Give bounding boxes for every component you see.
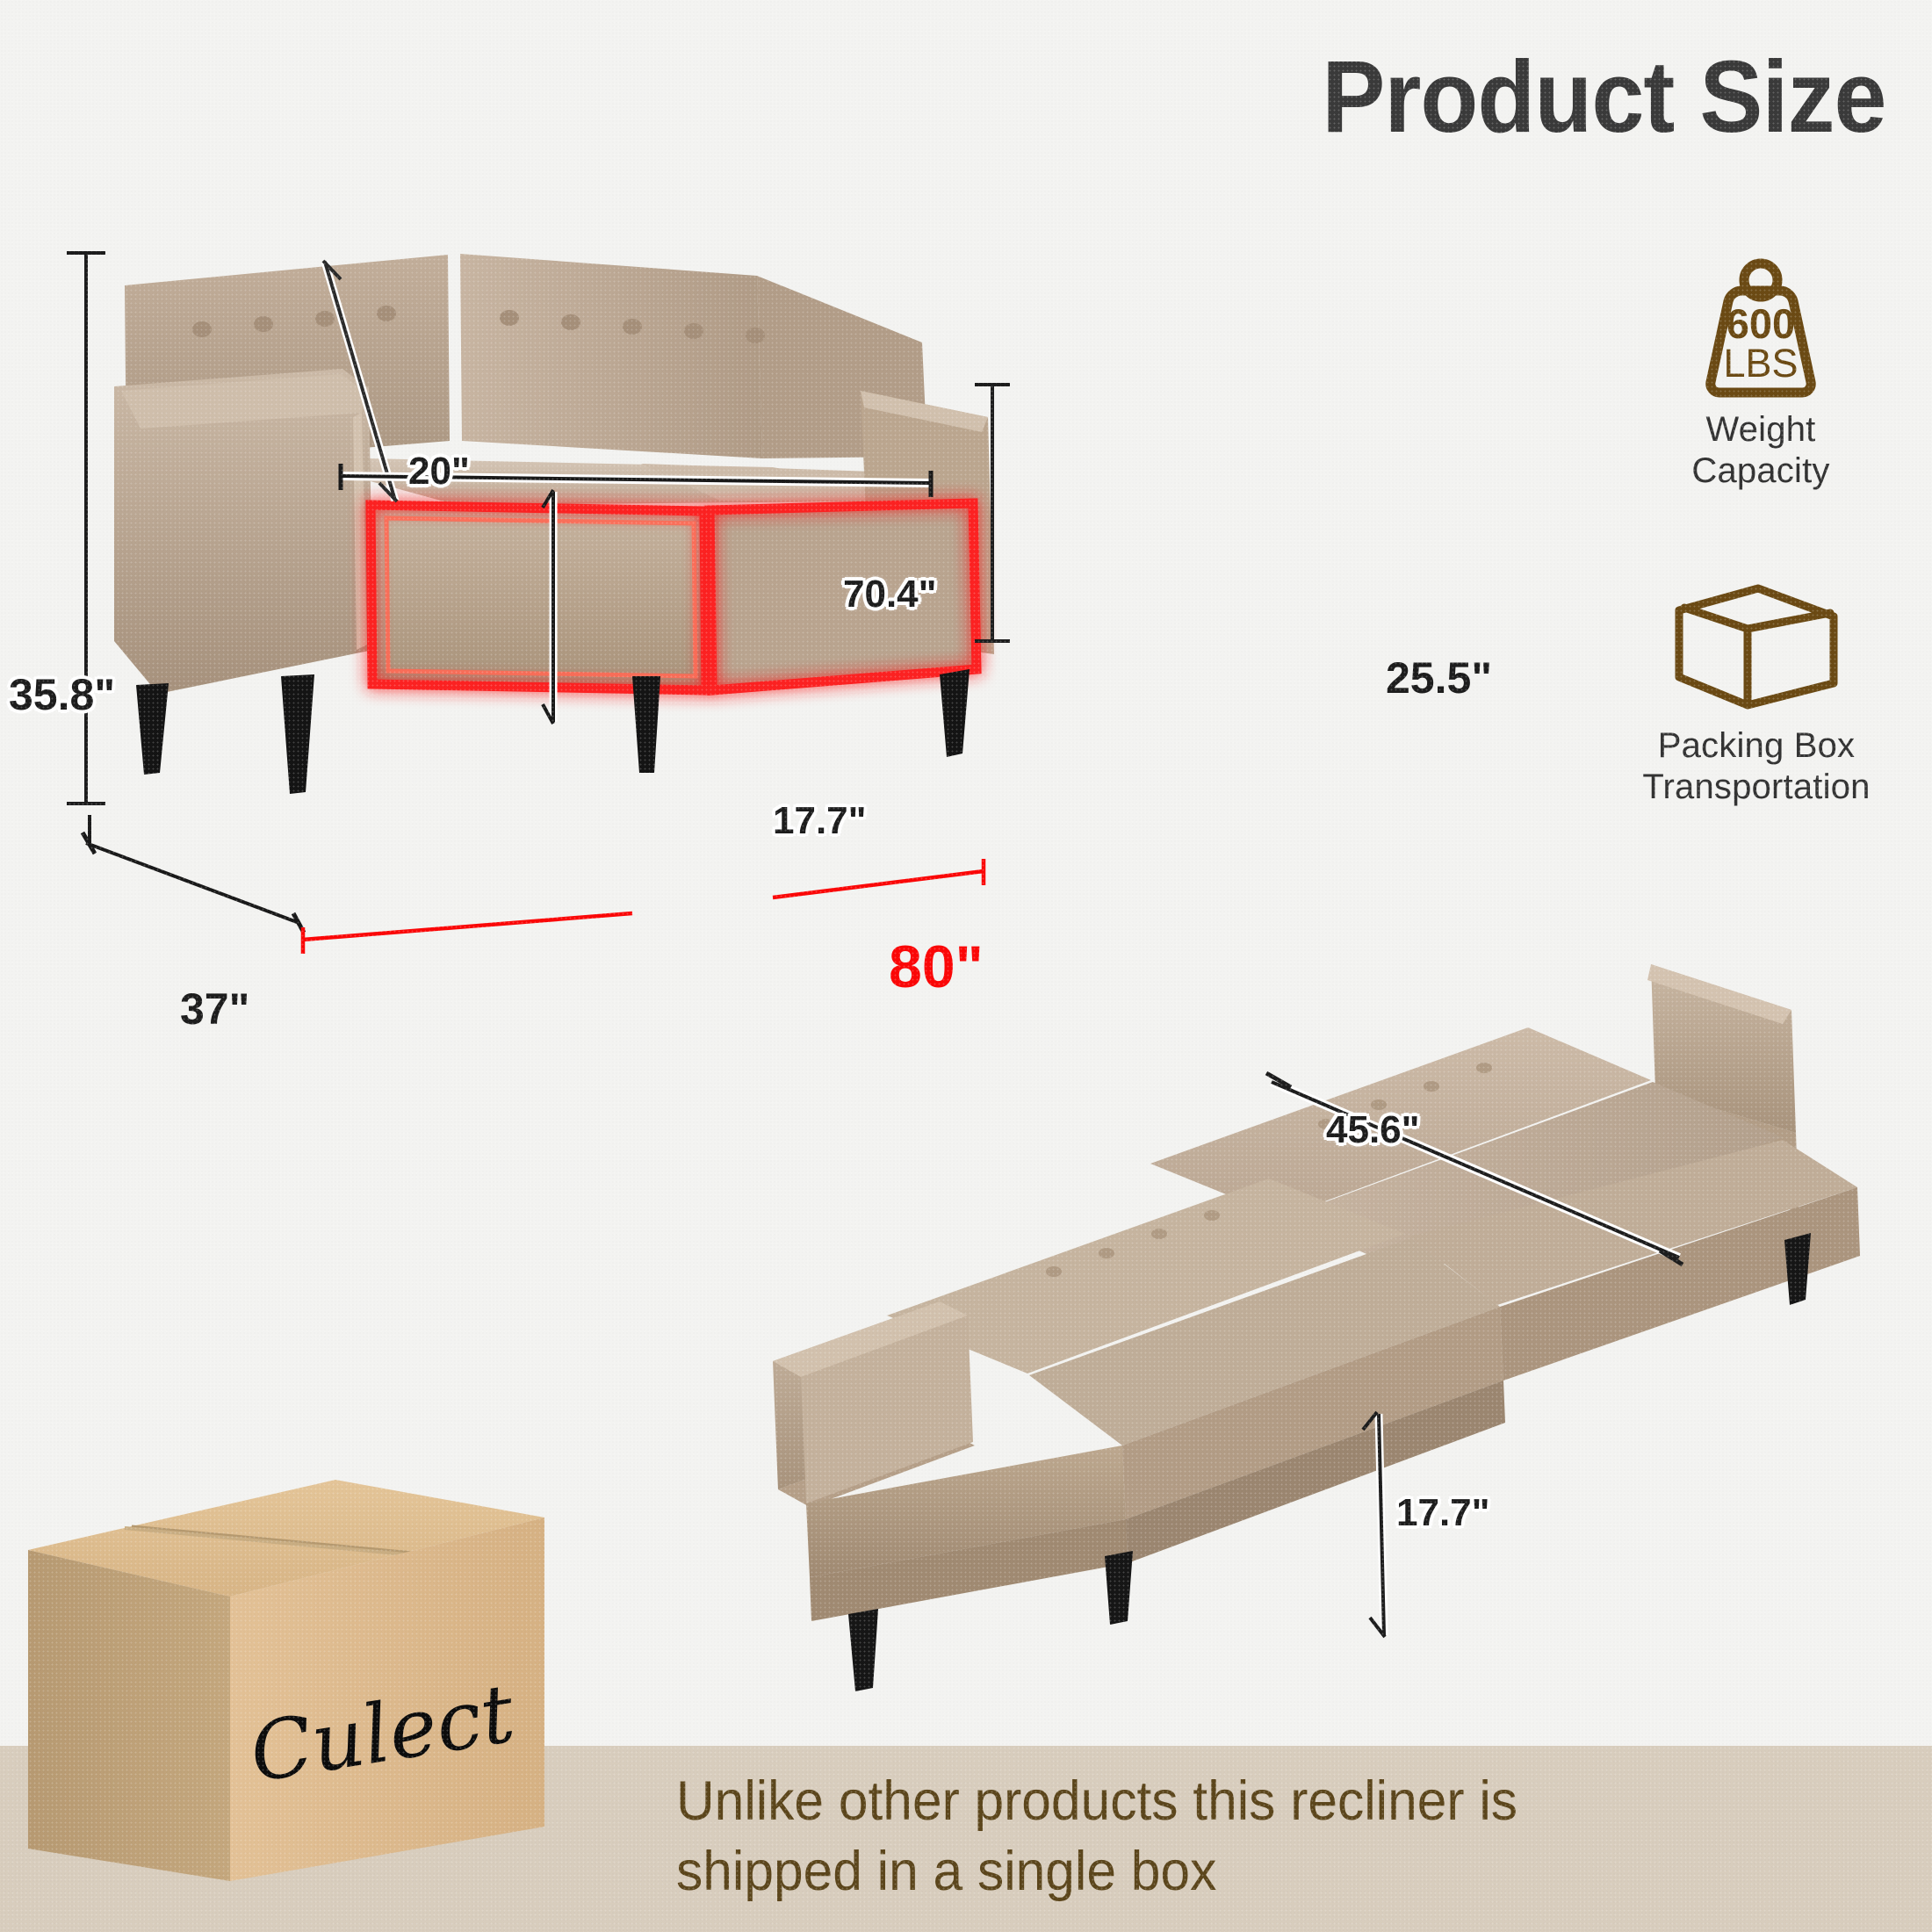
dim-overall-depth: 37" xyxy=(180,984,249,1034)
feature-weight-capacity: 600 LBS Weight Capacity xyxy=(1616,263,1906,492)
weight-unit: LBS xyxy=(1723,341,1798,386)
page-title: Product Size xyxy=(1323,46,1886,148)
feature-weight-caption: Weight Capacity xyxy=(1616,409,1906,492)
feature-box-caption: Packing Box Transportation xyxy=(1611,725,1901,808)
dim-overall-width: 80" xyxy=(889,933,984,1001)
footer-caption-line2: shipped in a single box xyxy=(676,1836,1517,1907)
carton-side-left xyxy=(28,1550,230,1881)
dim-seat-width: 70.4" xyxy=(843,573,937,616)
feature-box-caption-line2: Transportation xyxy=(1611,767,1901,808)
packing-carton-illustration: Culect xyxy=(9,1449,553,1906)
seat-base-left xyxy=(369,501,706,694)
feature-weight-caption-line2: Capacity xyxy=(1616,451,1906,492)
weight-plate-icon: 600 LBS xyxy=(1616,263,1906,395)
dim-seat-height: 17.7" xyxy=(773,799,867,843)
feature-weight-caption-line1: Weight xyxy=(1616,409,1906,451)
footer-caption-line1: Unlike other products this recliner is xyxy=(676,1766,1517,1837)
dim-arm-height: 25.5" xyxy=(1386,652,1492,703)
dim-bed-height: 17.7" xyxy=(1396,1491,1490,1535)
dim-bed-depth: 45.6" xyxy=(1326,1108,1420,1152)
infographic-canvas: Product Size 600 LBS Weight Capacity xyxy=(0,0,1932,1932)
footer-caption: Unlike other products this recliner is s… xyxy=(676,1766,1517,1907)
feature-box-caption-line1: Packing Box xyxy=(1611,725,1901,767)
dim-overall-height: 35.8" xyxy=(9,669,115,720)
feature-packing-box: Packing Box Transportation xyxy=(1611,580,1901,808)
dim-backrest-height: 20" xyxy=(408,450,470,494)
packing-box-icon xyxy=(1611,580,1901,711)
overall-width-line xyxy=(303,859,984,954)
backrest-right xyxy=(460,254,762,458)
sofa-bed-illustration xyxy=(764,948,1871,1686)
